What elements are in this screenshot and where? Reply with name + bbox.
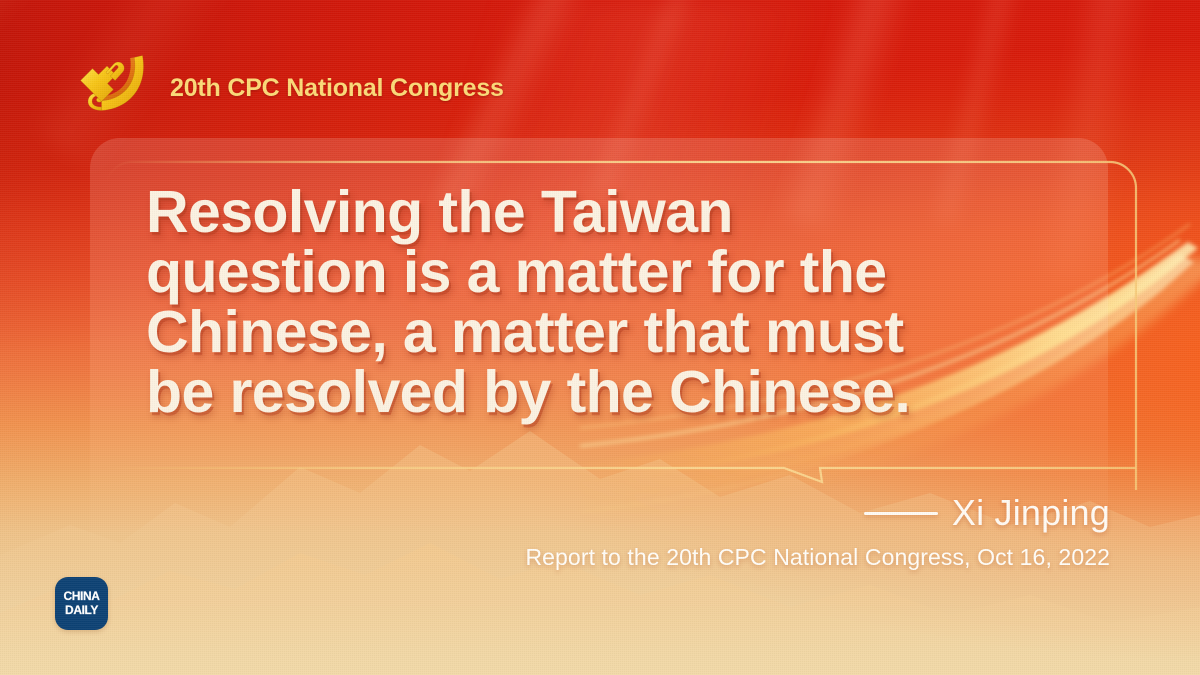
china-daily-logo[interactable]: CHINA DAILY [55, 577, 108, 630]
attribution-block: Xi Jinping Report to the 20th CPC Nation… [525, 492, 1110, 571]
quote-card-canvas: 20th CPC National Congress Resolving the… [0, 0, 1200, 675]
quote-line: Resolving the Taiwan [146, 182, 1106, 242]
attribution-name-row: Xi Jinping [525, 492, 1110, 534]
attribution-author: Xi Jinping [952, 492, 1110, 534]
em-dash-icon [864, 512, 938, 515]
hammer-and-sickle-icon [72, 52, 158, 124]
china-daily-logo-line1: CHINA [64, 590, 100, 603]
quote-line: question is a matter for the [146, 242, 1106, 302]
quote-line: Chinese, a matter that must [146, 302, 1106, 362]
quote-line: be resolved by the Chinese. [146, 362, 1106, 422]
header-title: 20th CPC National Congress [170, 74, 504, 103]
congress-header: 20th CPC National Congress [72, 52, 504, 124]
attribution-source: Report to the 20th CPC National Congress… [525, 544, 1110, 571]
quote-text: Resolving the Taiwan question is a matte… [146, 182, 1106, 422]
china-daily-logo-line2: DAILY [65, 604, 98, 617]
